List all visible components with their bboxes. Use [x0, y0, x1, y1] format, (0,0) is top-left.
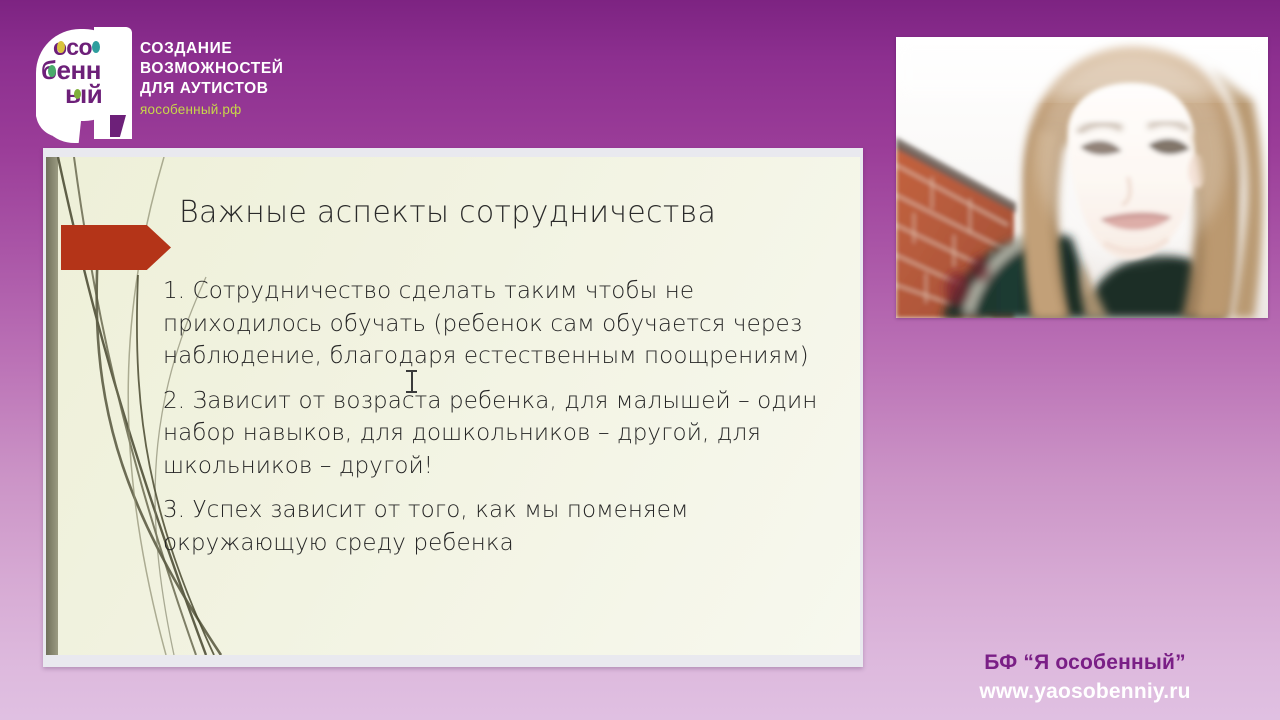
slide-paragraph-2: 2. Зависит от возраста ребенка, для малы…	[163, 385, 853, 483]
slide-paragraph-3: 3. Успех зависит от того, как мы поменяе…	[163, 494, 853, 559]
logo-row-3: ый	[65, 81, 102, 107]
logo-lettering: осо бенн ый	[34, 27, 132, 145]
presenter-webcam-panel[interactable]	[896, 37, 1268, 318]
slide-body-content: 1. Сотрудничество сделать таким чтобы не…	[163, 275, 853, 571]
logo-descender-shape	[110, 115, 126, 137]
footer-foundation-name: БФ “Я особенный”	[920, 648, 1250, 677]
tagline-line-3: ДЛЯ АУТИСТОВ	[140, 79, 340, 99]
presentation-slide-frame: Важные аспекты сотрудничества 1. Сотрудн…	[43, 148, 863, 667]
text-ibeam-cursor	[406, 369, 417, 395]
slide-left-accent-bar	[46, 157, 58, 655]
footer-website-url: www.yaosobenniy.ru	[920, 677, 1250, 706]
tagline-line-1: СОЗДАНИЕ	[140, 39, 340, 59]
tagline-website-url: яособенный.рф	[140, 102, 340, 117]
logo-accent-dot-yellow	[57, 41, 65, 53]
logo-accent-dot-green	[48, 65, 56, 77]
slide-title-arrow-marker	[61, 225, 171, 270]
tagline-line-2: ВОЗМОЖНОСТЕЙ	[140, 59, 340, 79]
organization-tagline: СОЗДАНИЕ ВОЗМОЖНОСТЕЙ ДЛЯ АУТИСТОВ яособ…	[140, 39, 340, 117]
slide-title: Важные аспекты сотрудничества	[179, 195, 839, 230]
logo-accent-dot-olive	[74, 89, 81, 99]
logo-accent-dot-teal	[92, 41, 100, 53]
logo-speech-bubble-icon: осо бенн ый	[34, 27, 132, 145]
webcam-video-image	[896, 37, 1268, 318]
slide-paragraph-1: 1. Сотрудничество сделать таким чтобы не…	[163, 275, 853, 373]
presentation-slide-canvas: Важные аспекты сотрудничества 1. Сотрудн…	[46, 157, 860, 655]
organization-logo-header: осо бенн ый СОЗДАНИЕ ВОЗМОЖНОСТЕЙ ДЛЯ АУ…	[34, 27, 334, 147]
footer-branding: БФ “Я особенный” www.yaosobenniy.ru	[920, 648, 1250, 706]
